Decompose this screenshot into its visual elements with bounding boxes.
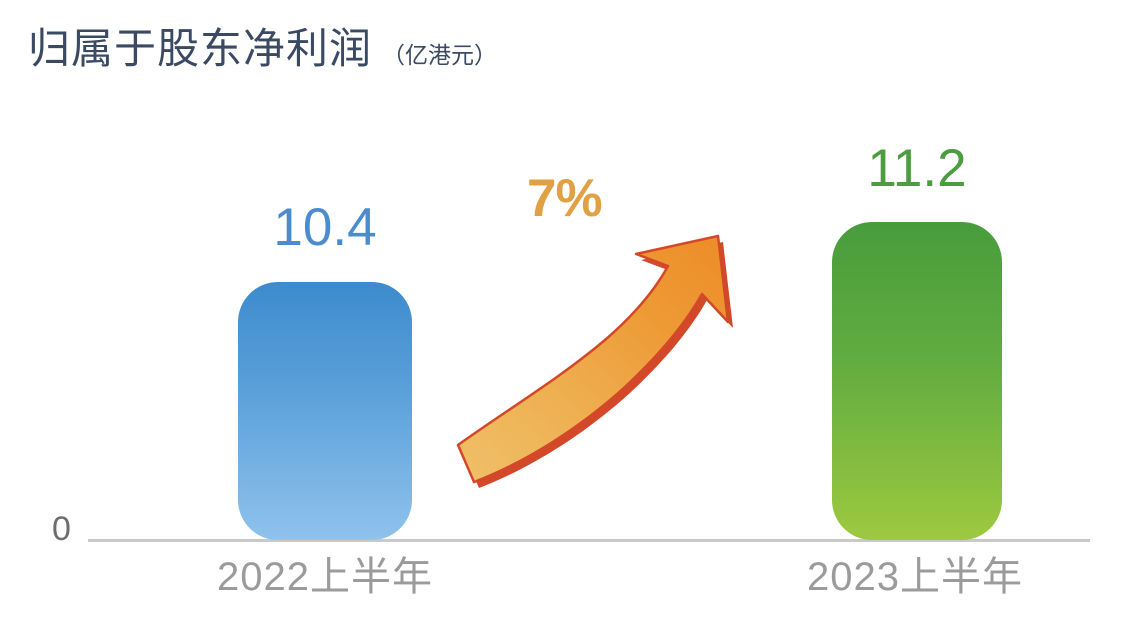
bar-value-label-2022: 10.4 [238, 201, 412, 254]
axis-zero-label: 0 [52, 512, 71, 546]
bar-2023[interactable] [832, 222, 1002, 540]
category-label-2023: 2023上半年 [770, 557, 1060, 597]
upward-curved-arrow-icon [440, 230, 760, 490]
growth-rate-label: 7% [527, 172, 602, 225]
chart-canvas: 归属于股东净利润 （亿港元） 0 10.4 2022上半年 11.2 2023上… [0, 0, 1134, 618]
plot-area: 0 10.4 2022上半年 11.2 2023上半年 7% [0, 0, 1134, 618]
bar-value-label-2023: 11.2 [832, 142, 1002, 195]
category-label-2022: 2022上半年 [180, 557, 470, 597]
bar-2022[interactable] [238, 282, 412, 540]
